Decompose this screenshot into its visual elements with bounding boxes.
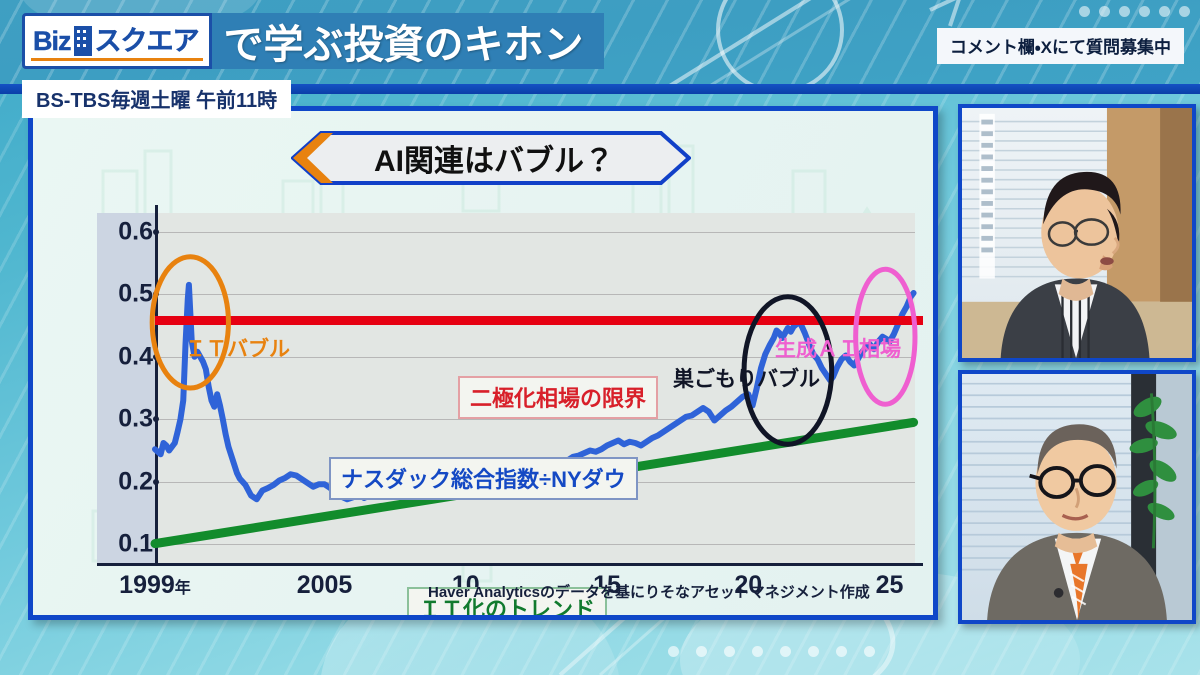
header-dots: [1079, 6, 1190, 17]
headline-text: AI関連はバブル？: [291, 131, 691, 185]
video-panel-top[interactable]: [958, 104, 1196, 362]
headline-ribbon: AI関連はバブル？: [291, 131, 691, 185]
chart-panel: AI関連はバブル？ 0.10.20.30.40.50.6 1999年200510…: [28, 106, 938, 620]
stay-home-bubble-annotation-label: 巣ごもりバブル: [673, 363, 820, 393]
video-panel-bottom[interactable]: [958, 370, 1196, 624]
bottom-decoration-dots: [668, 646, 875, 657]
x-axis-tick-label: 2005: [297, 571, 353, 600]
it-bubble-annotation-label: ＩＴバブル: [185, 333, 290, 363]
logo-underbar: [31, 58, 203, 61]
guest-speaker-video-frame: [962, 108, 1192, 358]
generative-ai-annotation-label: 生成ＡＩ相場: [775, 333, 901, 363]
y-axis-gutter: [97, 213, 155, 563]
x-axis-tick-label: 25: [876, 571, 904, 600]
chart-source-note: Haver Analyticsのデータを基にりそなアセットマネジメント作成: [428, 581, 870, 602]
comment-call-to-action-banner: コメント欄・Xにて質問募集中: [937, 28, 1184, 64]
program-logo: Biz スクエア: [22, 13, 212, 69]
series-label: ナスダック総合指数÷NYダウ: [329, 457, 638, 500]
commentator-video-frame: [962, 374, 1192, 620]
y-axis-tick-label: 0.6: [118, 217, 153, 246]
logo-square-text: スクエア: [95, 28, 199, 55]
building-icon: [74, 26, 92, 56]
broadcast-schedule-banner: BS-TBS毎週土曜 午前11時: [22, 80, 291, 118]
comment-call-to-action-text: コメント欄・Xにて質問募集中: [950, 33, 1171, 58]
y-axis-tick-label: 0.3: [118, 405, 153, 434]
y-axis-tick-label: 0.5: [118, 280, 153, 309]
threshold-label: 二極化相場の限界: [458, 376, 658, 419]
broadcast-schedule-text: BS-TBS毎週土曜 午前11時: [36, 84, 277, 113]
y-axis-tick-label: 0.4: [118, 342, 153, 371]
y-axis-tick-label: 0.1: [118, 530, 153, 559]
broadcast-screen: Biz スクエア で学ぶ投資のキホン BS-TBS毎週土曜 午前11時 コメント…: [0, 0, 1200, 675]
logo-biz-text: Biz: [33, 28, 71, 55]
program-title-ribbon: で学ぶ投資のキホン: [198, 13, 604, 69]
y-axis-tick-label: 0.2: [118, 467, 153, 496]
x-axis-line: [97, 563, 923, 566]
x-axis-tick-label: 1999年: [119, 571, 191, 600]
program-title: Biz スクエア で学ぶ投資のキホン: [22, 13, 604, 69]
